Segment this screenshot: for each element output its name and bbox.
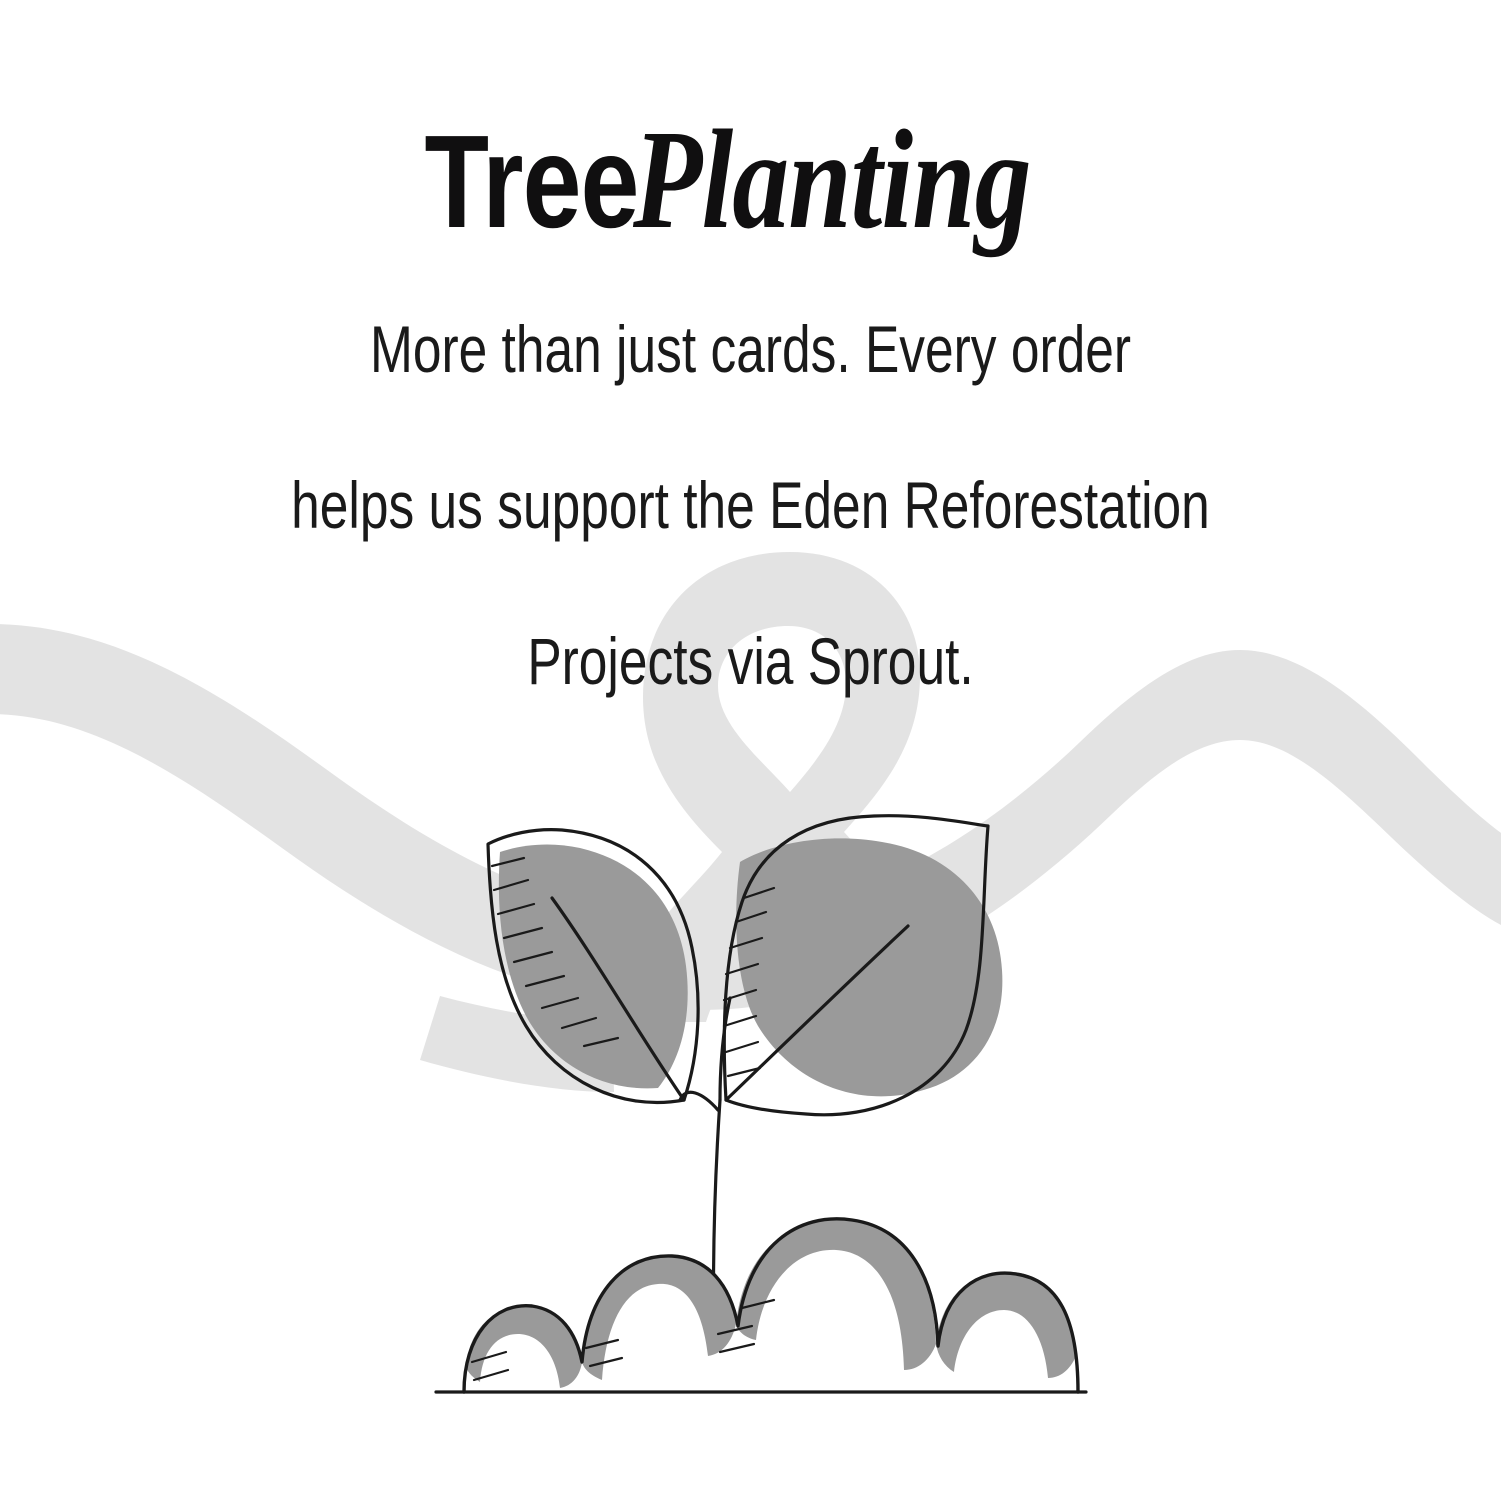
right-leaf xyxy=(724,816,1002,1115)
soil-mound xyxy=(464,1219,1078,1392)
page-title-bold-part: Tree xyxy=(425,116,639,248)
body-copy: More than just cards. Every order helps … xyxy=(0,250,1501,694)
page-title-italic-part: Planting xyxy=(633,108,1031,250)
left-leaf xyxy=(488,830,698,1103)
body-copy-line-3: Projects via Sprout. xyxy=(165,628,1336,694)
page-title: TreePlanting xyxy=(0,0,1501,250)
text-block: TreePlanting More than just cards. Every… xyxy=(0,0,1501,784)
tree-planting-graphic: TreePlanting More than just cards. Every… xyxy=(0,0,1501,1501)
body-copy-line-1: More than just cards. Every order xyxy=(165,316,1336,382)
body-copy-line-2: helps us support the Eden Reforestation xyxy=(165,472,1336,538)
seedling-sprout-illustration xyxy=(430,800,1090,1420)
